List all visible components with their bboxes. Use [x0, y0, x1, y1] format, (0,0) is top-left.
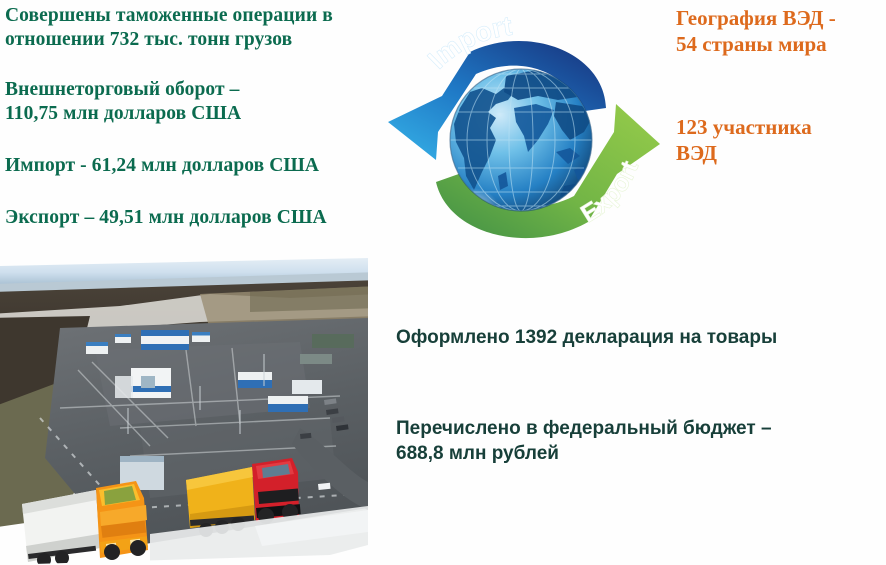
stat-import-value: Импорт - 61,24 млн долларов США: [5, 154, 385, 178]
stat-export-value: Экспорт – 49,51 млн долларов США: [5, 206, 385, 230]
left-stats-block: Совершены таможенные операции в отношени…: [5, 4, 385, 230]
infographic-slide: Совершены таможенные операции в отношени…: [0, 0, 886, 565]
stat-customs-operations: Совершены таможенные операции в отношени…: [5, 4, 385, 52]
stat-foreign-trade-turnover: Внешнеторговый оборот – 110,75 млн долла…: [5, 78, 385, 126]
stat-federal-budget: Перечислено в федеральный бюджет – 688,8…: [396, 416, 876, 466]
photo-content: [0, 258, 368, 565]
stat-geography: География ВЭД - 54 страны мира: [676, 5, 884, 57]
stat-declarations: Оформлено 1392 декларация на товары: [396, 325, 876, 350]
right-stats-block: География ВЭД - 54 страны мира 123 участ…: [676, 5, 884, 166]
border-checkpoint-photo: [0, 258, 368, 565]
stat-participants: 123 участника ВЭД: [676, 114, 884, 166]
bottom-stats-block: Оформлено 1392 декларация на товары Пере…: [396, 325, 876, 466]
import-export-globe-graphic: Import Export: [378, 0, 668, 262]
